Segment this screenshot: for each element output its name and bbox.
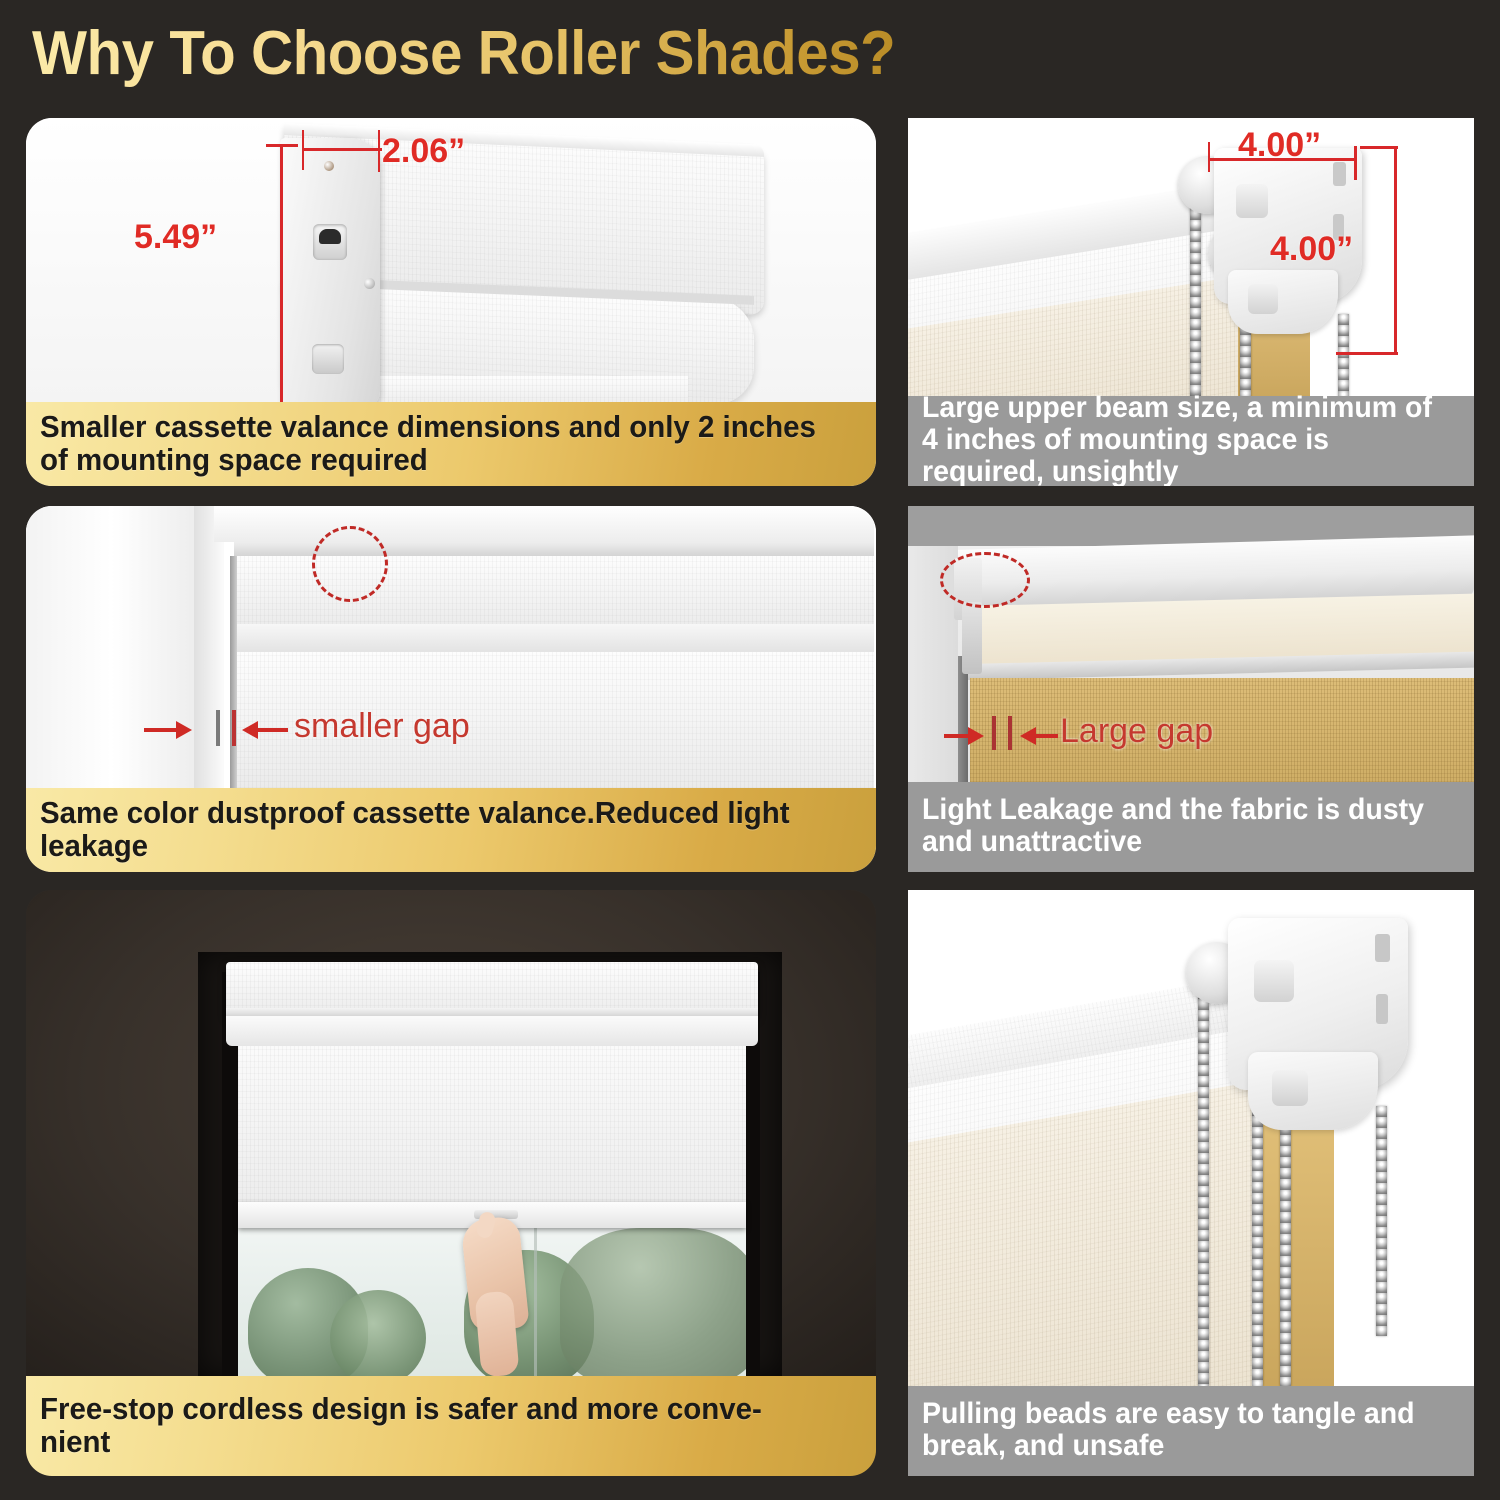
gap2-arrow-stem-left [944, 734, 970, 738]
mounting-bracket-lower [1228, 270, 1338, 334]
dim-label-height-2: 4.00” [1270, 230, 1353, 269]
valance-lower-lip [226, 1016, 758, 1046]
product-photo-cassette-valance: 2.06” 5.49” [26, 118, 876, 406]
left-bracket-stem [962, 602, 982, 674]
dim-cap-top [266, 144, 298, 147]
bead-chain-3 [1338, 314, 1349, 396]
gap-tick-a [216, 710, 220, 746]
panel-3-caption: Same color dustproof cassette valance.Re… [26, 788, 876, 872]
product-photo-dustproof: smaller gap [26, 506, 876, 788]
dusty-tan-fabric [970, 678, 1474, 782]
dim-label-width-2: 4.00” [1238, 126, 1321, 165]
panel-cordless-design: Free-stop cordless design is safer and m… [26, 890, 876, 1476]
gap-label-smaller: smaller gap [294, 707, 470, 746]
gap2-arrow-stem-right [1036, 734, 1058, 738]
highlight-circle [312, 526, 388, 602]
panel-1-caption-text: Smaller cassette valance dimensions and … [40, 410, 821, 476]
light-leak-gap [958, 656, 968, 782]
bracket-clutch-slot [313, 224, 347, 260]
dim-label-height: 5.49” [134, 218, 217, 257]
window-head [214, 506, 874, 542]
highlight-circle-2 [940, 552, 1030, 608]
room-scene-photo [26, 890, 876, 1376]
dim-line-width [302, 148, 382, 151]
gap-label-large: Large gap [1060, 712, 1213, 751]
gap2-tick-a [992, 716, 996, 750]
gap-arrow-left [242, 721, 258, 739]
gap2-tick-b [1008, 716, 1012, 750]
dim-tick-left-2 [1208, 142, 1210, 172]
panel-6-caption-text: Pulling beads are easy to tangle and bre… [922, 1398, 1433, 1462]
panel-4-caption: Light Leakage and the fabric is dusty an… [908, 782, 1474, 872]
panel-large-upper-beam: 4.00” 4.00” Large upper beam size, a min… [908, 118, 1474, 486]
product-photo-large-beam: 4.00” 4.00” [908, 118, 1474, 396]
gap-tick-b [232, 710, 236, 746]
panel-2-caption-text: Large upper beam size, a minimum of 4 in… [922, 392, 1433, 486]
dim-cap-bottom-2 [1336, 352, 1398, 355]
dim-line-height-2 [1394, 146, 1397, 354]
dim-cap-top-2 [1360, 146, 1398, 149]
bead-chain-d [1376, 1106, 1387, 1336]
product-photo-bead-chain [908, 890, 1474, 1386]
panel-pulling-beads: Pulling beads are easy to tangle and bre… [908, 890, 1474, 1476]
dim-tick-right [378, 130, 380, 172]
panel-5-caption: Free-stop cordless design is safer and m… [26, 1376, 876, 1476]
bracket-screw-mid [364, 278, 375, 289]
bracket-lock-tab [312, 344, 344, 374]
shade-mid-rail [234, 624, 874, 654]
gap-arrow-stem-left [144, 728, 178, 732]
panel-light-leakage: Large gap Light Leakage and the fabric i… [908, 506, 1474, 872]
panel-1-caption: Smaller cassette valance dimensions and … [26, 402, 876, 486]
gap-sliver [230, 556, 237, 788]
dim-label-width: 2.06” [382, 132, 465, 171]
panel-6-caption: Pulling beads are easy to tangle and bre… [908, 1386, 1474, 1476]
page-title: Why To Choose Roller Shades? [32, 18, 895, 89]
product-photo-light-leakage: Large gap [908, 506, 1474, 782]
header: Why To Choose Roller Shades? [0, 0, 1500, 112]
gap-arrow-stem-right [258, 728, 288, 732]
panel-3-caption-text: Same color dustproof cassette valance.Re… [40, 796, 821, 862]
bracket-plate-lower [1248, 1052, 1378, 1130]
gap2-arrow-left [1020, 727, 1036, 745]
forearm [474, 1291, 519, 1376]
bracket-screw-top [324, 161, 334, 171]
dim-tick-right-2 [1354, 146, 1357, 180]
panel-2-caption: Large upper beam size, a minimum of 4 in… [908, 396, 1474, 486]
panel-smaller-cassette: 2.06” 5.49” Smaller cassette valance dim… [26, 118, 876, 486]
gap-arrow-right [176, 721, 192, 739]
panel-4-caption-text: Light Leakage and the fabric is dusty an… [922, 794, 1433, 858]
panel-5-caption-text: Free-stop cordless design is safer and m… [40, 1392, 821, 1458]
window-jamb [26, 506, 216, 788]
dim-line-height [280, 144, 283, 406]
bead-chain-a [1198, 966, 1209, 1386]
panel-dustproof-cassette: smaller gap Same color dustproof cassett… [26, 506, 876, 872]
gap2-arrow-right [968, 727, 984, 745]
